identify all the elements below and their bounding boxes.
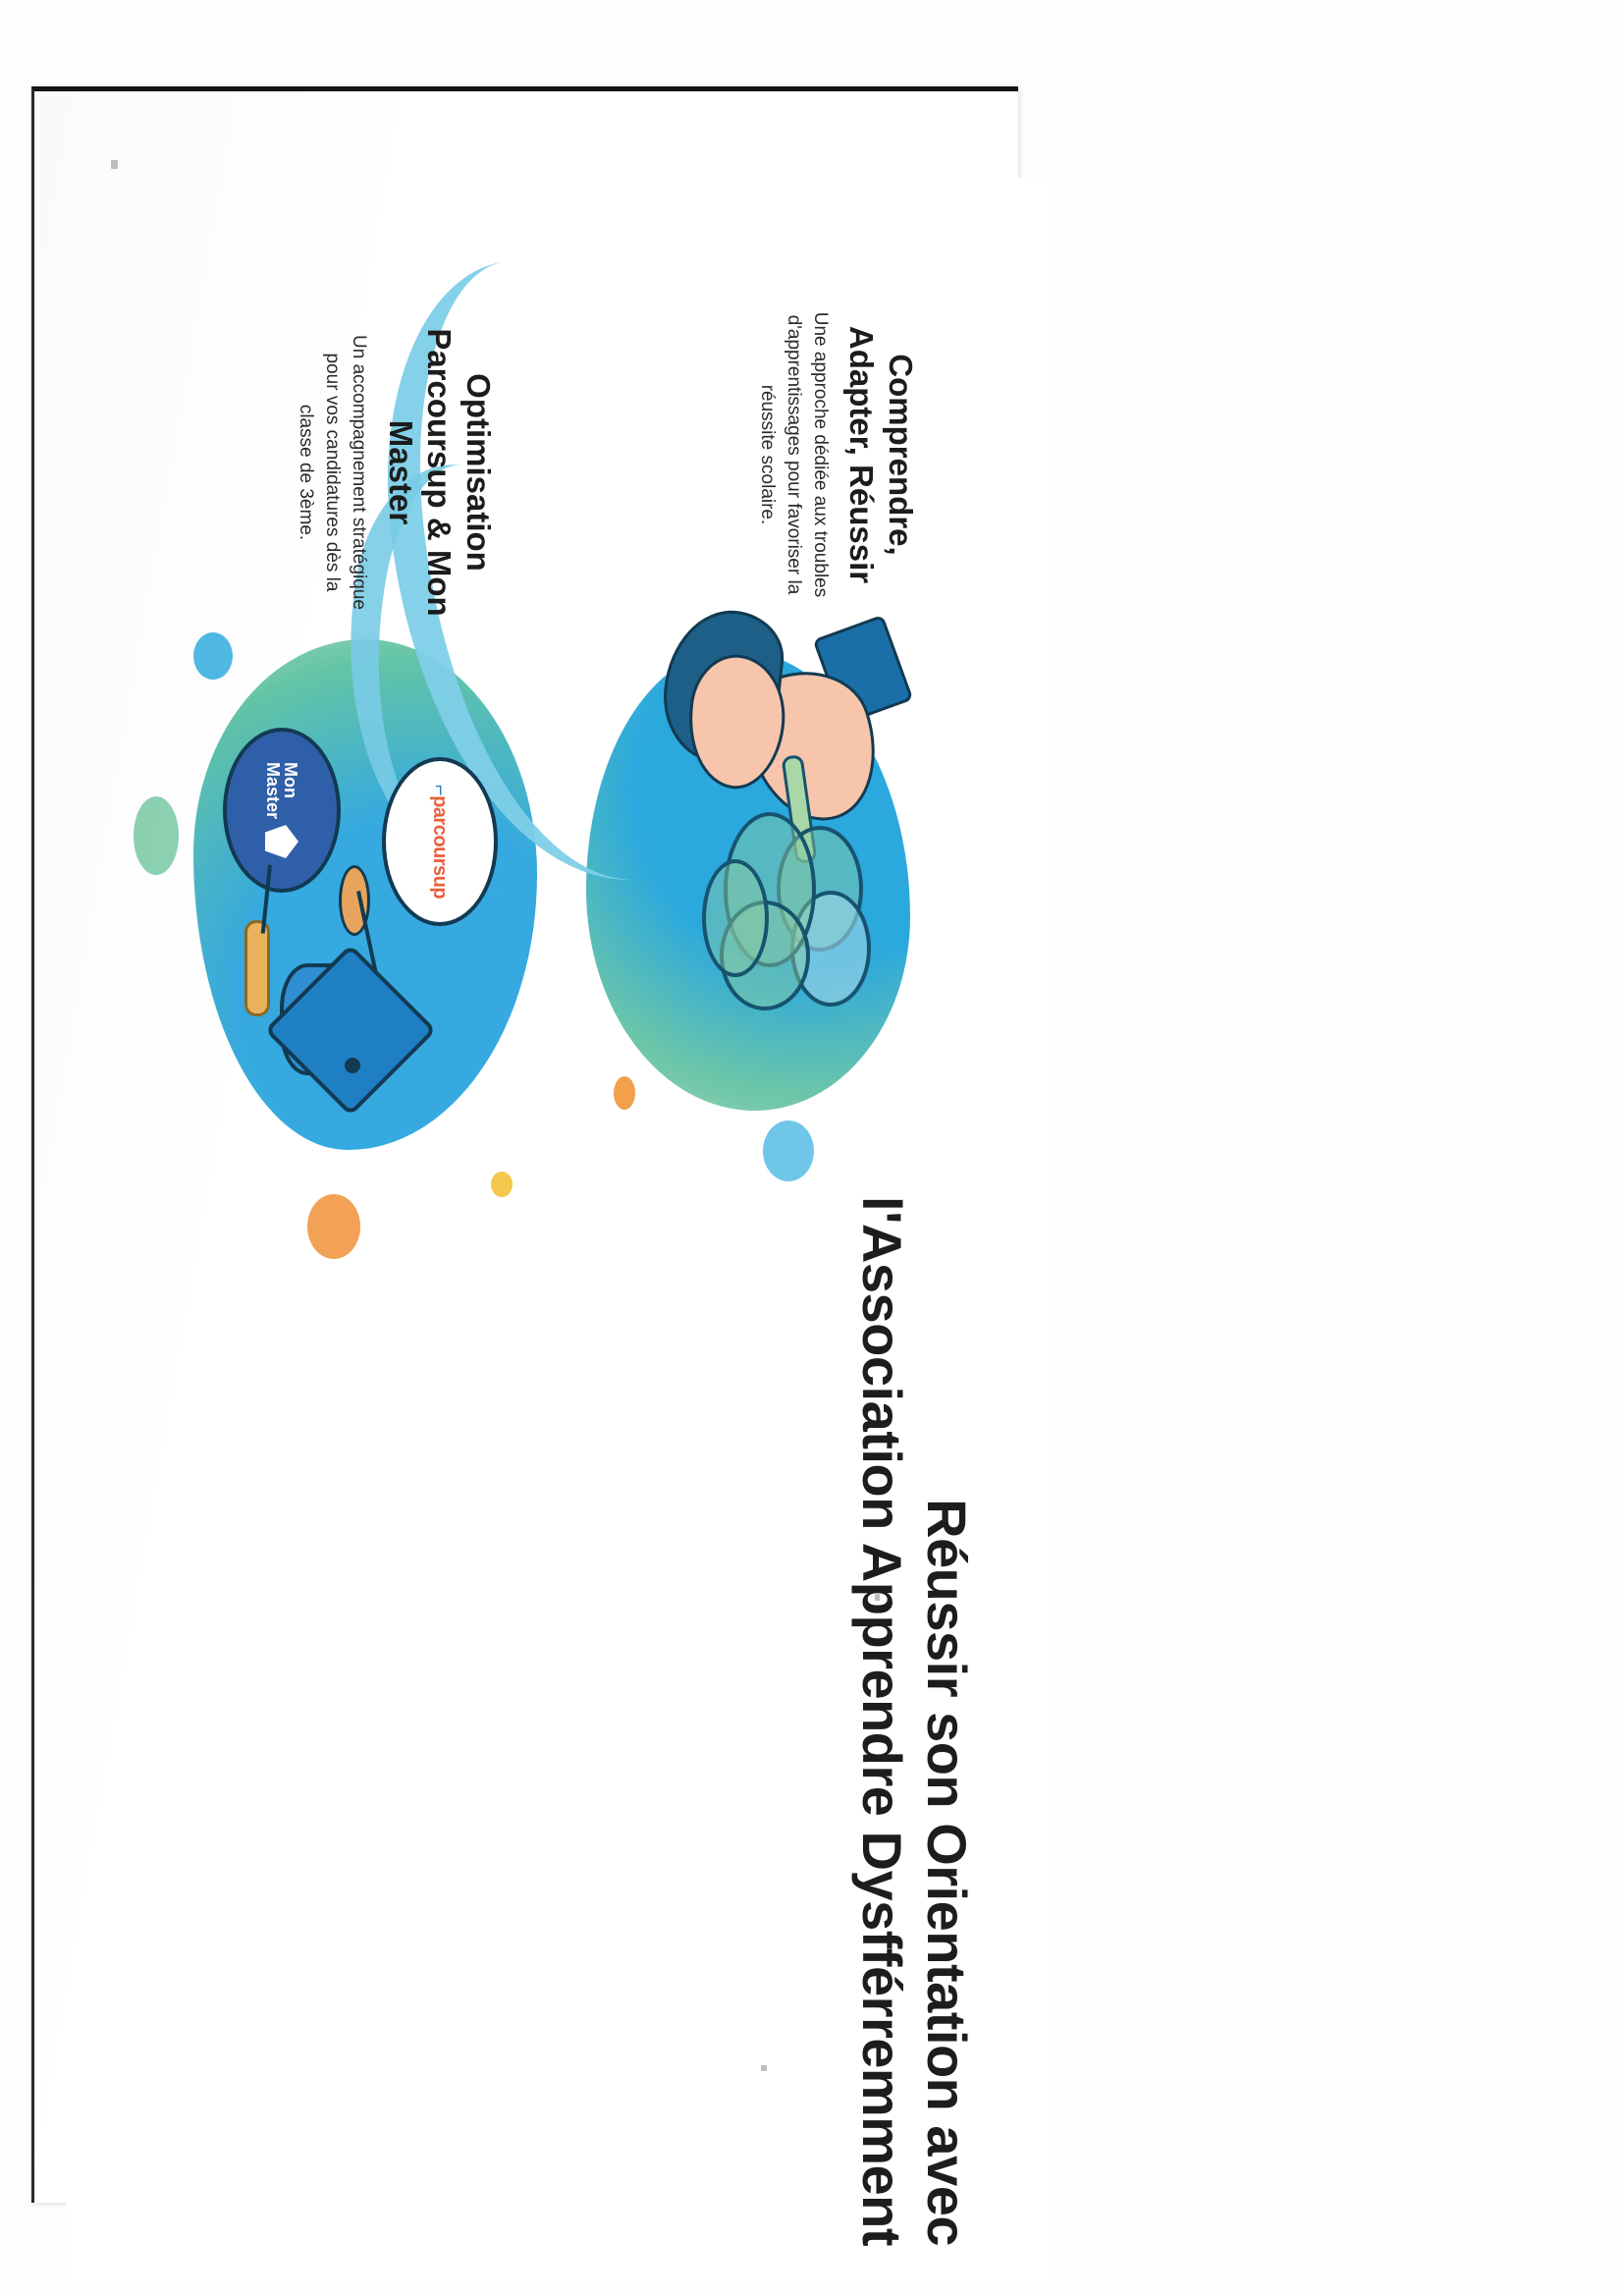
decor-dot-yellow-1 — [491, 1172, 513, 1197]
poster: Réussir son Orientation avec l'Associati… — [66, 178, 1048, 2285]
decor-dot-blue-1 — [763, 1121, 814, 1181]
scan-speck — [875, 1594, 880, 1601]
parcoursup-logo: ⌐parcoursup — [382, 757, 498, 926]
section-1-heading: Comprendre, Adapter, Réussir — [842, 307, 920, 602]
section-2-body: Un accompagnement stratégique pour vos c… — [292, 325, 371, 620]
section-1-body: Une approche dédiée aux troubles d'appre… — [753, 307, 833, 602]
decor-dot-orange-2 — [307, 1194, 360, 1259]
title-line-2: l'Association Apprendre Dysfférremment — [849, 1166, 914, 2246]
decor-dot-orange-1 — [614, 1076, 635, 1110]
parcoursup-label: parcoursup — [430, 795, 452, 899]
poster-rotation-wrapper: Réussir son Orientation avec l'Associati… — [66, 178, 1048, 2285]
graduation-cap-icon — [272, 963, 419, 1111]
mon-master-logo: Mon Master — [223, 728, 341, 893]
decor-dot-blue-2 — [193, 632, 233, 680]
scanned-page: Réussir son Orientation avec l'Associati… — [0, 0, 1623, 2296]
page-title: Réussir son Orientation avec l'Associati… — [849, 1166, 979, 2246]
brain-icon — [704, 806, 871, 1012]
mon-master-mark — [265, 825, 298, 858]
paper-sheet: Réussir son Orientation avec l'Associati… — [31, 86, 1018, 2203]
decor-dot-green-1 — [134, 796, 179, 875]
title-line-1: Réussir son Orientation avec — [916, 1499, 978, 2246]
mon-master-line-1: Mon — [281, 762, 300, 798]
scan-speck — [111, 160, 118, 169]
section-comprendre: Comprendre, Adapter, Réussir Une approch… — [753, 307, 920, 602]
connector-node-2 — [244, 920, 270, 1016]
scan-speck — [761, 2065, 767, 2071]
mon-master-line-2: Master — [263, 762, 283, 819]
section-optimisation: Optimisation Parcoursup & Mon Master Un … — [292, 325, 498, 620]
section-2-heading: Optimisation Parcoursup & Mon Master — [381, 325, 498, 620]
